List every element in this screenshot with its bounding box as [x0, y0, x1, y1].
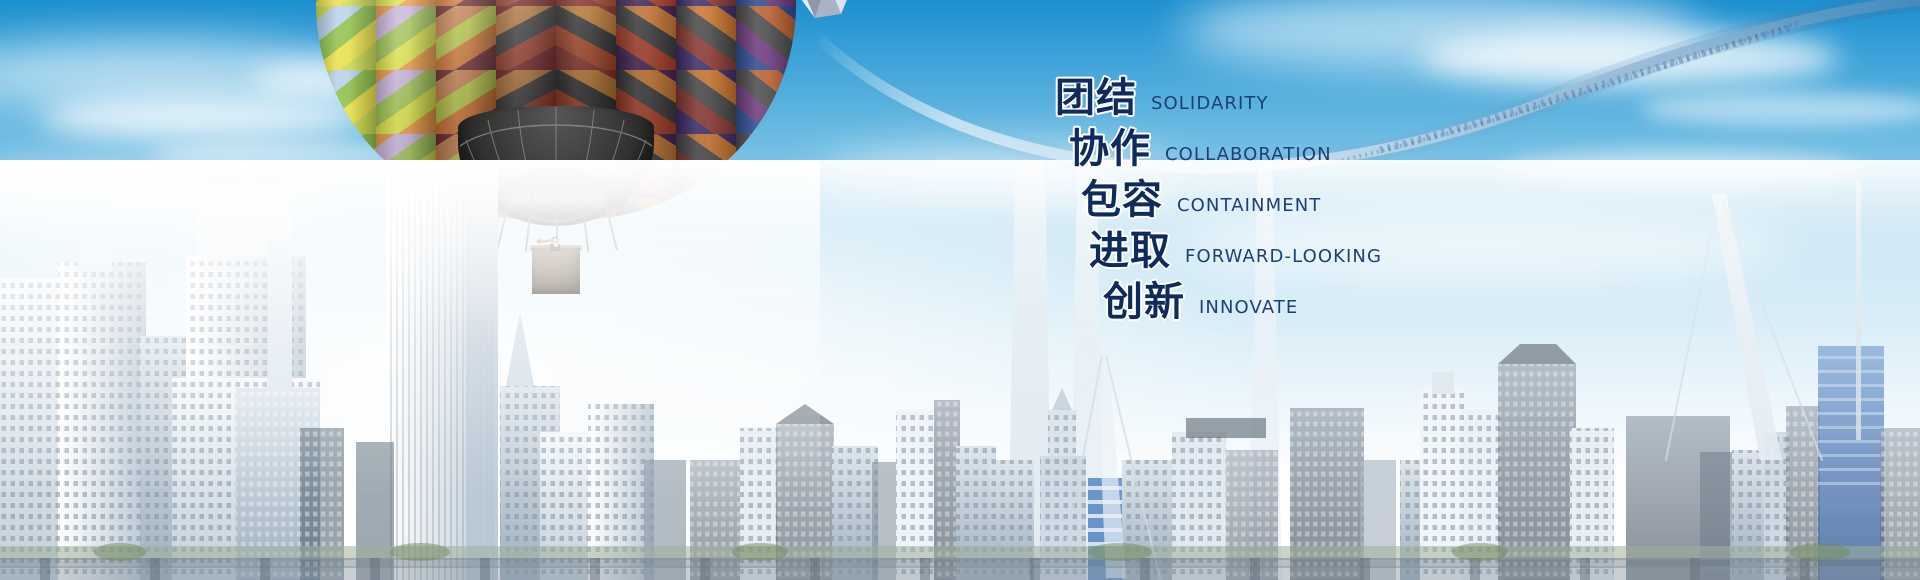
slogan-row: 创新 INNOVATE	[1103, 282, 1575, 322]
culture-banner: 团结 SOLIDARITY 协作 COLLABORATION 包容 CONTAI…	[0, 0, 1920, 580]
foreground-bridge	[0, 543, 1920, 580]
slogan-cn: 创新	[1103, 282, 1185, 322]
slogan-row: 包容 CONTAINMENT	[1081, 180, 1575, 220]
slogan-en: COLLABORATION	[1165, 144, 1332, 165]
city-skyline	[0, 160, 1920, 580]
slogan-row: 协作 COLLABORATION	[1069, 129, 1575, 169]
skyline-left	[0, 160, 686, 580]
slogan-block: 团结 SOLIDARITY 协作 COLLABORATION 包容 CONTAI…	[1055, 78, 1575, 333]
slogan-en: CONTAINMENT	[1177, 195, 1321, 216]
slogan-en: INNOVATE	[1199, 297, 1298, 318]
slogan-cn: 进取	[1089, 231, 1171, 271]
slogan-row: 团结 SOLIDARITY	[1055, 78, 1575, 118]
slogan-en: SOLIDARITY	[1151, 93, 1269, 114]
slogan-row: 进取 FORWARD-LOOKING	[1089, 231, 1575, 271]
slogan-cn: 协作	[1069, 129, 1151, 169]
slogan-cn: 团结	[1055, 78, 1137, 118]
slogan-cn: 包容	[1081, 180, 1163, 220]
slogan-en: FORWARD-LOOKING	[1185, 246, 1382, 267]
